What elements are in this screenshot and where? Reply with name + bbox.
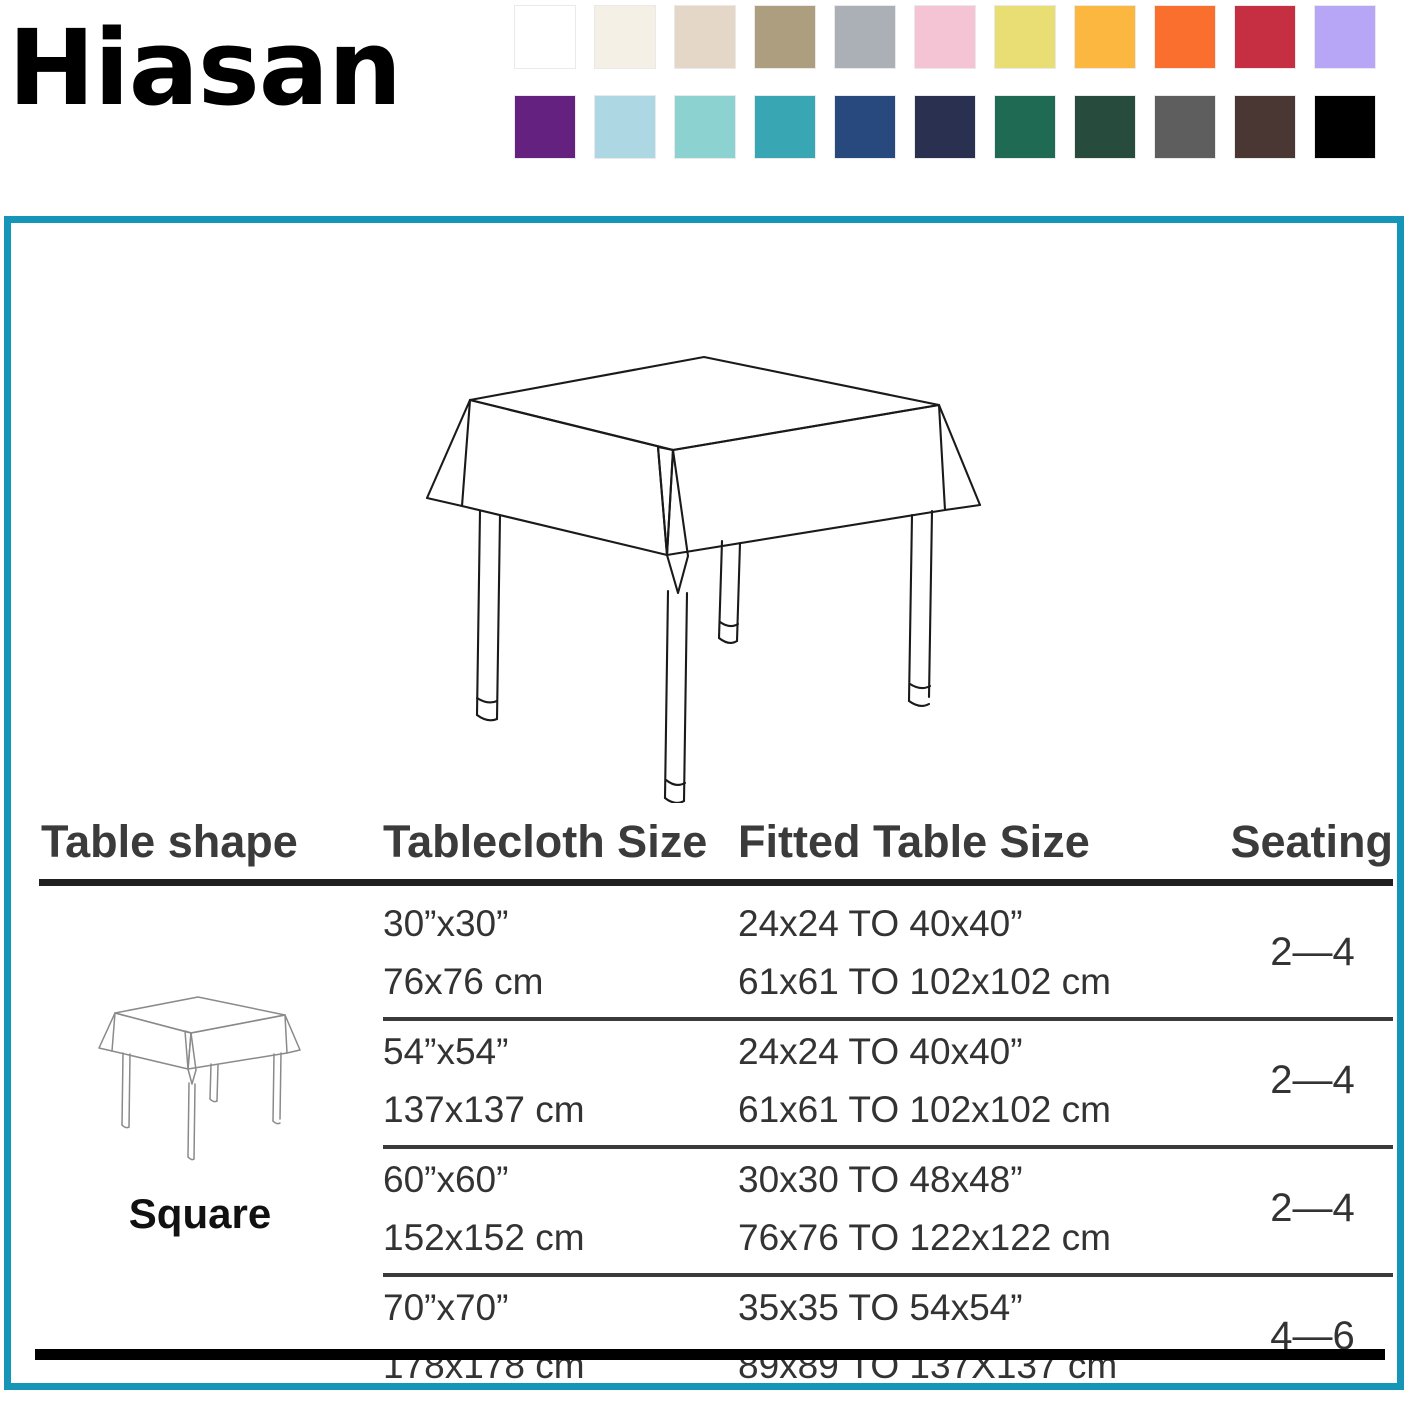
header-banner: Hiasan — [0, 0, 1416, 205]
cell-tablecloth-cm: 137x137 cm — [383, 1087, 585, 1133]
color-swatch-amber[interactable] — [1075, 6, 1135, 68]
table-bottom-divider — [35, 1349, 1385, 1360]
color-swatch-pink[interactable] — [915, 6, 975, 68]
header-seating: Seating — [1230, 811, 1393, 873]
color-swatch-purple[interactable] — [515, 96, 575, 158]
color-swatch-ivory[interactable] — [595, 6, 655, 68]
color-swatch-dark-green[interactable] — [1075, 96, 1135, 158]
cell-fitted-inches: 30x30 TO 48x48” — [738, 1157, 1023, 1203]
color-swatch-blue[interactable] — [835, 96, 895, 158]
cell-tablecloth-inches: 60”x60” — [383, 1157, 508, 1203]
size-table: Table shape Tablecloth Size Fitted Table… — [35, 811, 1393, 1405]
color-swatch-beige[interactable] — [675, 6, 735, 68]
brand-logo: Hiasan — [8, 8, 401, 128]
color-swatch-gray[interactable] — [835, 6, 895, 68]
color-swatch-aqua[interactable] — [675, 96, 735, 158]
header-tablecloth-size: Tablecloth Size — [383, 811, 707, 873]
table-header-row: Table shape Tablecloth Size Fitted Table… — [35, 811, 1393, 881]
swatch-row-cool — [515, 96, 1410, 158]
cell-tablecloth-inches: 30”x30” — [383, 901, 508, 947]
cell-seating: 2—4 — [1210, 1185, 1415, 1231]
color-swatch-light-blue[interactable] — [595, 96, 655, 158]
cell-fitted-cm: 61x61 TO 102x102 cm — [738, 1087, 1111, 1133]
color-swatch-navy[interactable] — [915, 96, 975, 158]
color-swatch-red[interactable] — [1235, 6, 1295, 68]
cell-tablecloth-inches: 70”x70” — [383, 1285, 508, 1331]
header-table-shape: Table shape — [41, 811, 298, 873]
cell-fitted-cm: 61x61 TO 102x102 cm — [738, 959, 1111, 1005]
cell-fitted-cm: 76x76 TO 122x122 cm — [738, 1215, 1111, 1261]
cell-seating: 2—4 — [1210, 1057, 1415, 1103]
cell-fitted-inches: 35x35 TO 54x54” — [738, 1285, 1023, 1331]
color-swatch-panel — [515, 6, 1410, 186]
color-swatch-green[interactable] — [995, 96, 1055, 158]
color-swatch-black[interactable] — [1315, 96, 1375, 158]
header-divider — [39, 879, 1393, 886]
size-chart-frame: Table shape Tablecloth Size Fitted Table… — [4, 216, 1404, 1390]
table-row: 60”x60” 152x152 cm 30x30 TO 48x48” 76x76… — [35, 1149, 1393, 1277]
color-swatch-dark-gray[interactable] — [1155, 96, 1215, 158]
color-swatch-white[interactable] — [515, 6, 575, 68]
color-swatch-teal[interactable] — [755, 96, 815, 158]
table-row: 70”x70” 178x178 cm 35x35 TO 54x54” 89x89… — [35, 1277, 1393, 1405]
square-table-with-tablecloth-illustration — [415, 343, 995, 803]
color-swatch-dark-brown[interactable] — [1235, 96, 1295, 158]
header-fitted-table-size: Fitted Table Size — [738, 811, 1090, 873]
table-row: 54”x54” 137x137 cm 24x24 TO 40x40” 61x61… — [35, 1021, 1393, 1149]
color-swatch-taupe[interactable] — [755, 6, 815, 68]
color-swatch-yellow[interactable] — [995, 6, 1055, 68]
cell-fitted-inches: 24x24 TO 40x40” — [738, 901, 1023, 947]
cell-tablecloth-cm: 76x76 cm — [383, 959, 543, 1005]
table-row: 30”x30” 76x76 cm 24x24 TO 40x40” 61x61 T… — [35, 893, 1393, 1021]
swatch-row-warm — [515, 6, 1410, 68]
color-swatch-orange[interactable] — [1155, 6, 1215, 68]
cell-fitted-inches: 24x24 TO 40x40” — [738, 1029, 1023, 1075]
cell-seating: 2—4 — [1210, 929, 1415, 975]
table-body: Square 30”x30” 76x76 cm 24x24 TO 40x40” … — [35, 893, 1393, 1405]
cell-tablecloth-inches: 54”x54” — [383, 1029, 508, 1075]
color-swatch-lavender[interactable] — [1315, 6, 1375, 68]
cell-tablecloth-cm: 152x152 cm — [383, 1215, 585, 1261]
